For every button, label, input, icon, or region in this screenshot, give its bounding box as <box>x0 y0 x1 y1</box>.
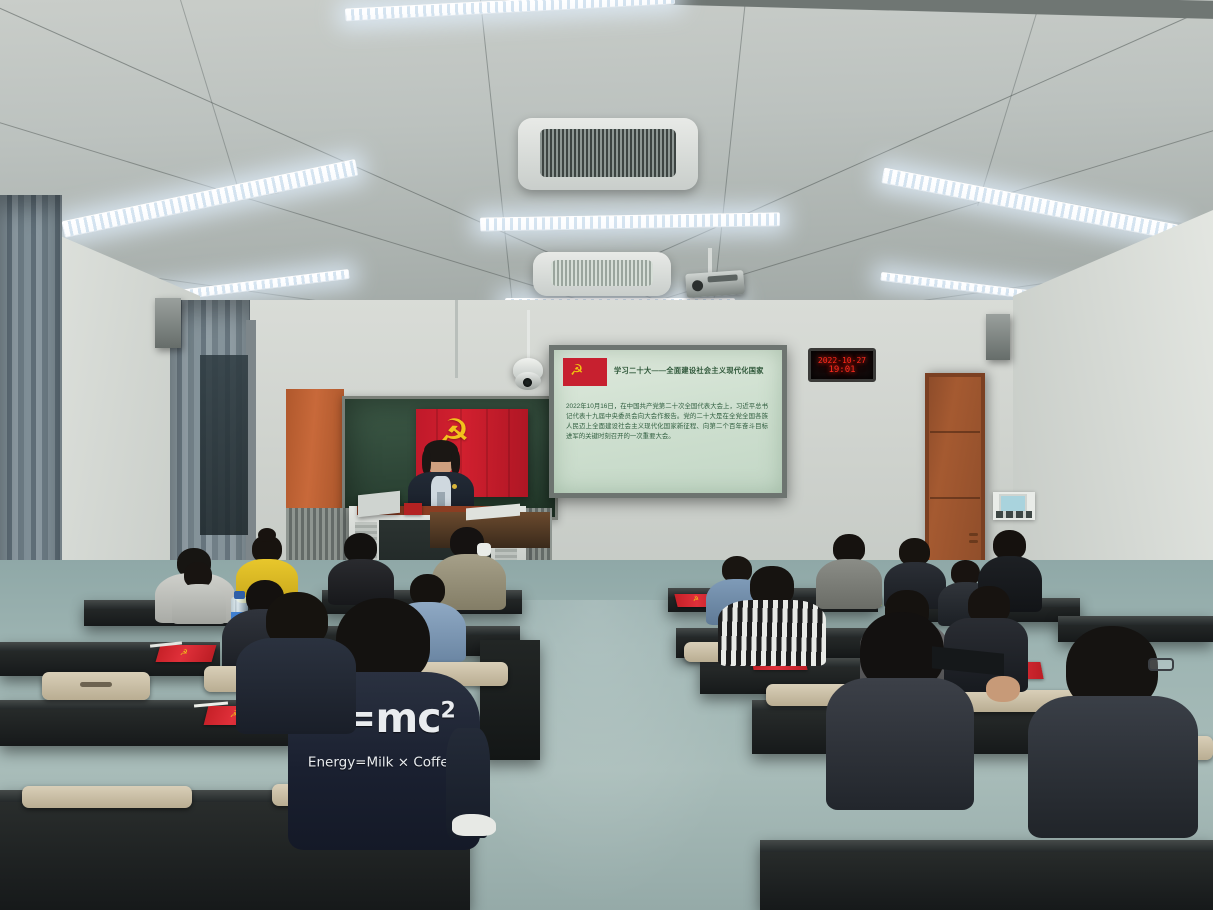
ceiling-ac-cassette <box>533 252 671 296</box>
student <box>826 612 974 802</box>
presenter-badge <box>452 484 457 489</box>
student-desk <box>760 840 1213 910</box>
student <box>328 533 394 599</box>
student <box>172 562 226 618</box>
student-chair[interactable] <box>22 786 192 808</box>
ceiling-antenna-rod <box>455 300 458 378</box>
presenter-hair <box>451 450 460 474</box>
student-desk <box>480 640 540 760</box>
student <box>1028 626 1198 830</box>
front-side-panel <box>286 389 344 509</box>
student-shoe <box>452 814 496 836</box>
face-mask <box>477 543 491 556</box>
eyeglasses <box>1148 658 1174 671</box>
ptz-dome-camera <box>513 358 543 382</box>
presenter-hair <box>422 450 431 474</box>
projection-screen: ☭ 学习二十大——全面建设社会主义现代化国家 2022年10月16日，在中国共产… <box>554 350 782 493</box>
slide-body-text: 2022年10月16日，在中国共产党第二十次全国代表大会上，习近平总书记代表十九… <box>566 402 768 442</box>
camera-mount-rod <box>527 310 530 362</box>
led-clock: 2022-10-27 19:01 <box>808 348 876 382</box>
projection-screen-frame: ☭ 学习二十大——全面建设社会主义现代化国家 2022年10月16日，在中国共产… <box>549 345 787 498</box>
student-striped-shirt <box>718 566 826 658</box>
wall-speaker <box>986 314 1010 360</box>
student-chair[interactable] <box>42 672 150 700</box>
slide-title: 学习二十大——全面建设社会主义现代化国家 <box>614 366 764 376</box>
red-study-booklet[interactable]: ☭ <box>156 645 217 662</box>
slide-flag-graphic: ☭ <box>563 358 607 386</box>
student <box>236 592 356 722</box>
hammer-sickle-icon: ☭ <box>570 363 583 378</box>
hand <box>986 676 1020 702</box>
ceiling-projector <box>685 270 745 298</box>
ceiling-ac-cassette <box>518 118 698 190</box>
led-clock-date: 2022-10-27 <box>818 356 866 365</box>
desk-nameplate <box>404 503 422 515</box>
booklet-emblem: ☭ <box>179 649 188 657</box>
classroom-photo: ☭ ☭ 学习二十大——全面建设社会主义现代化国家 2022年10月16日，在中国… <box>0 0 1213 910</box>
wall-control-panel[interactable] <box>993 492 1035 520</box>
wall-speaker <box>155 298 181 348</box>
booklet-emblem: ☭ <box>692 596 700 603</box>
led-clock-time: 19:01 <box>828 365 855 375</box>
laptop[interactable] <box>358 491 400 517</box>
window-glass-left <box>200 355 248 535</box>
